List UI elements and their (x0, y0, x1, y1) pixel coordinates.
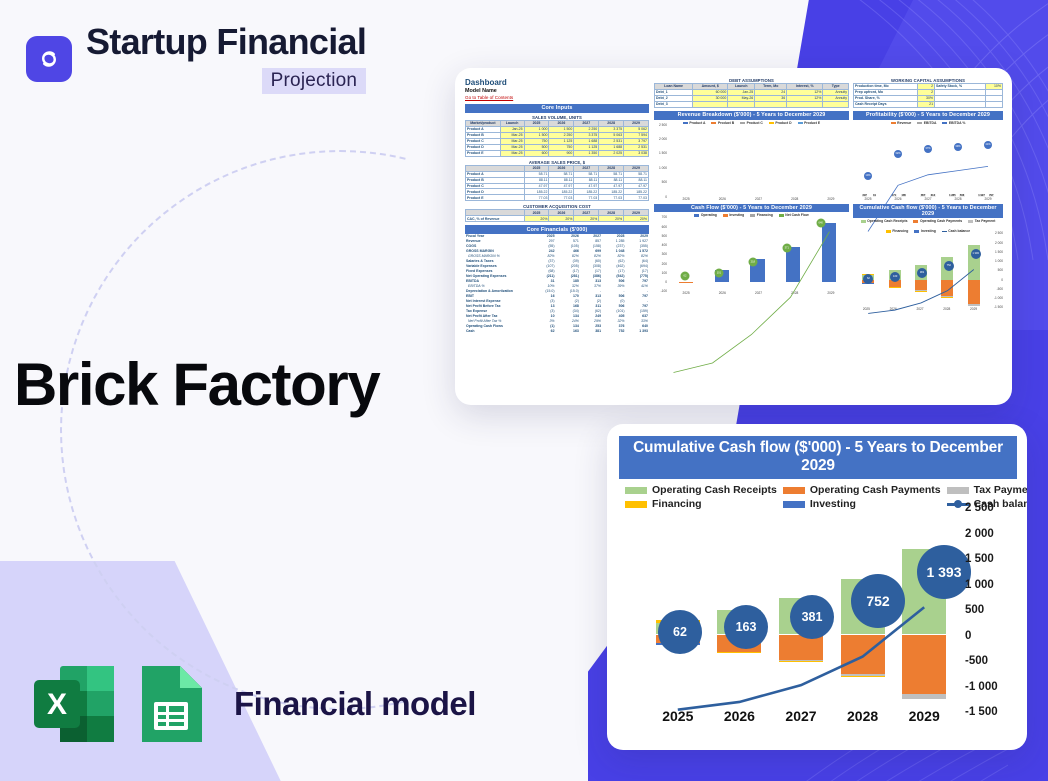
table-cell: 752 (602, 329, 625, 334)
table-cell (985, 101, 1002, 107)
line-marker: 752 (944, 261, 954, 271)
legend-label: Operating Cash Receipts (867, 219, 907, 223)
table-cell: 3 038 (624, 150, 649, 156)
cac-value-0: 20% (524, 216, 549, 222)
legend-swatch (694, 214, 699, 216)
logo-mark (26, 36, 72, 82)
legend-label: Tax Payment (975, 219, 996, 223)
cac-row: CAC, % of Revenue 20% 20% 20% 20% 20% (466, 216, 649, 222)
legend-swatch (891, 122, 896, 124)
table-cell: 77.03 (624, 195, 649, 201)
axis-tick: 1 500 (995, 250, 1003, 254)
debt-table[interactable]: Loan Name Amount, $ Launch Term, Mo Inte… (654, 83, 849, 108)
debt-body: Debt_160 000Jan-252412%AnnuityDebt_230 0… (655, 89, 849, 107)
infinity-loop-icon (35, 45, 63, 73)
legend-swatch (769, 122, 774, 124)
footer-label: Financial model (234, 685, 476, 723)
axis-label: 2029 (893, 708, 955, 724)
cumulative-mini-line (855, 233, 987, 365)
legend-label: Financing (652, 498, 702, 510)
wc-body: Production time, Mo2Safety Stock, %10%Pr… (854, 84, 1003, 108)
legend-label: Operating Cash Receipts (652, 484, 777, 496)
cumulative-mini-plot: 2 5002 0001 5001 0005000-500-1 000-1 500… (853, 233, 1003, 307)
line-marker: 163 (890, 272, 900, 282)
bar-group (775, 125, 811, 197)
table-cell: 2 025 (599, 150, 624, 156)
axis-tick: 0 (1001, 278, 1003, 282)
avg-price-body: Product A58.7158.7158.7158.7158.71Produc… (466, 171, 649, 201)
cumulative-cash-flow-card[interactable]: Cumulative Cash flow ($'000) - 5 Years t… (607, 424, 1027, 750)
dashboard-title: Dashboard (465, 78, 649, 87)
axis-label: 2028 (777, 197, 813, 201)
axis-tick: -1 500 (965, 706, 998, 718)
table-row[interactable]: Product E77.0377.0377.0377.0377.03 (466, 195, 649, 201)
table-cell: Product E (466, 195, 525, 201)
table-row[interactable]: Debt_3 (655, 101, 849, 107)
cumulative-mini-title: Cumulative Cash flow ($'000) - 5 Years t… (853, 204, 1003, 219)
axis-label: 2029 (813, 197, 849, 201)
cash-balance-marker: 752 (851, 574, 905, 628)
line-marker: 10% (864, 172, 872, 180)
axis-tick: -500 (997, 287, 1003, 291)
google-sheets-icon (134, 660, 210, 748)
dashboard-preview-card[interactable]: Dashboard Model Name Go to Table of Cont… (455, 68, 1012, 405)
cac-row-label: CAC, % of Revenue (466, 216, 525, 222)
core-financials-table[interactable]: Fiscal Year 2025 2026 2027 2028 2029 Rev… (465, 234, 649, 333)
legend-swatch (947, 487, 969, 494)
legend-swatch (625, 487, 647, 494)
table-cell: Debt_3 (655, 101, 693, 107)
sales-volume-table[interactable]: Market/product Launch 2025 2026 2027 202… (465, 120, 649, 157)
axis-tick: 1 500 (659, 151, 667, 155)
avg-price-table[interactable]: 2025 2026 2027 2028 2029 Product A58.715… (465, 165, 649, 202)
line-marker: 1 393 (971, 249, 981, 259)
line-marker: 41% (984, 141, 992, 149)
axis-label: 2026 (704, 197, 740, 201)
cash-flow-line (654, 217, 849, 405)
table-cell: Mar-25 (500, 150, 524, 156)
legend-item: Tax Payment (968, 219, 995, 223)
legend-item: Operating Cash Payments (913, 219, 962, 223)
legend-swatch (711, 122, 716, 124)
axis-label: 2025 (668, 197, 704, 201)
legend-item: Operating Cash Receipts (861, 219, 908, 223)
profitability-chart[interactable]: Profitability ($'000) - 5 Years to Decem… (853, 111, 1003, 201)
legend-swatch (913, 220, 918, 222)
legend-swatch (723, 214, 728, 216)
cash-balance-marker: 163 (724, 605, 768, 649)
line-marker: 218 (748, 258, 757, 267)
toc-link[interactable]: Go to Table of Contents (465, 95, 649, 100)
legend-item: Operating Cash Payments (783, 484, 941, 496)
legend-swatch (783, 487, 805, 494)
bar-group (668, 125, 704, 197)
axis-tick: 1 000 (995, 259, 1003, 263)
table-cell: 62 (531, 329, 555, 334)
axis-tick: -1 000 (994, 296, 1003, 300)
axis-tick: 1 000 (659, 166, 667, 170)
axis-tick: 0 (965, 630, 971, 642)
legend-swatch (779, 214, 784, 216)
revenue-bars (668, 125, 847, 197)
table-cell: 77.03 (549, 195, 574, 201)
revenue-breakdown-chart[interactable]: Revenue Breakdown ($'000) - 5 Years to D… (654, 111, 849, 201)
line-marker: 62 (863, 274, 873, 284)
cumulative-chart-plot: 621633817521 393 2 5002 0001 5001 000500… (629, 522, 1017, 702)
legend-swatch (886, 230, 891, 232)
table-row[interactable]: Cash621633817521 393 (465, 329, 649, 334)
table-cell: 77.03 (599, 195, 624, 201)
core-financials-header: Core Financials ($'000) (465, 225, 649, 234)
axis-tick: -500 (965, 655, 988, 667)
line-marker: 381 (917, 268, 927, 278)
cumulative-mini-legend: Operating Cash ReceiptsOperating Cash Pa… (853, 219, 1003, 233)
sales-volume-body: Product AJan-251 0001 5002 2503 3755 062… (466, 126, 649, 156)
line-marker: 371 (782, 243, 791, 252)
axis-tick: 1 500 (965, 553, 994, 565)
table-cell: 77.03 (574, 195, 599, 201)
table-cell: Cash Receipt Days (854, 101, 918, 107)
revenue-y-axis: 2 5002 0001 5001 0005000 (654, 125, 668, 197)
col-market-product: Market/product (466, 120, 501, 126)
revenue-breakdown-title: Revenue Breakdown ($'000) - 5 Years to D… (654, 111, 849, 120)
legend-label: Tax Payment (974, 484, 1027, 496)
revenue-breakdown-plot: 2 5002 0001 5001 0005000 (654, 125, 849, 197)
cumulative-mini-y-axis: 2 5002 0001 5001 0005000-500-1 000-1 500 (987, 233, 1003, 307)
legend-swatch (917, 122, 922, 124)
table-row[interactable]: Cash Receipt Days21 (854, 101, 1003, 107)
legend-swatch (740, 122, 745, 124)
axis-tick: 500 (965, 604, 984, 616)
cac-table[interactable]: 2025 2026 2027 2028 2029 CAC, % of Reven… (465, 209, 649, 222)
axis-tick: 2 500 (659, 123, 667, 127)
row-label: Cash (465, 329, 531, 334)
axis-label: 2027 (740, 197, 776, 201)
legend-item: Operating Cash Receipts (625, 484, 777, 496)
revenue-x-axis: 20252026202720282029 (654, 197, 849, 201)
cash-flow-chart[interactable]: Cash Flow ($'000) - 5 Years to December … (654, 204, 849, 312)
cumulative-chart-legend: Operating Cash ReceiptsOperating Cash Pa… (619, 479, 1017, 510)
page-title: Brick Factory (14, 350, 379, 419)
axis-tick: -1 000 (965, 681, 998, 693)
axis-tick: 2 500 (995, 231, 1003, 235)
brand-title: Startup Financial (86, 24, 366, 60)
legend-item: Tax Payment (947, 484, 1027, 496)
axis-label: 2026 (709, 708, 771, 724)
legend-swatch (942, 231, 947, 232)
table-cell: 1 350 (574, 150, 599, 156)
table-cell (935, 101, 986, 107)
line-marker: 101 (714, 268, 723, 277)
legend-swatch (798, 122, 803, 124)
axis-tick: 500 (998, 268, 1003, 272)
line-marker: 32% (894, 150, 902, 158)
axis-tick: 2 000 (659, 137, 667, 141)
table-cell: 77.03 (524, 195, 549, 201)
legend-swatch (750, 214, 755, 216)
model-name-label: Model Name (465, 88, 649, 94)
cac-value-3: 20% (599, 216, 624, 222)
cash-balance-marker: 381 (790, 595, 834, 639)
brand-logo: Startup Financial Projection (26, 24, 366, 94)
cac-value-2: 20% (574, 216, 599, 222)
cumulative-chart-title: Cumulative Cash flow ($'000) - 5 Years t… (619, 436, 1017, 479)
legend-label: Operating Cash Payments (810, 484, 941, 496)
axis-label: 2027 (770, 708, 832, 724)
cac-value-4: 20% (624, 216, 649, 222)
svg-text:X: X (47, 688, 67, 721)
table-cell: 1 393 (626, 329, 650, 334)
axis-tick: -1 500 (994, 305, 1003, 309)
table-cell: Product E (466, 150, 501, 156)
working-capital-table[interactable]: Production time, Mo2Safety Stock, %10%Pr… (853, 83, 1003, 108)
cac-value-1: 20% (549, 216, 574, 222)
table-row[interactable]: Product EMar-256009001 3502 0253 038 (466, 150, 649, 156)
core-inputs-header: Core Inputs (465, 104, 649, 113)
axis-tick: 1 000 (965, 579, 994, 591)
cash-flow-plot: 7006005004003002001000-100 6210121837164… (654, 217, 849, 291)
cumulative-cash-flow-mini-chart[interactable]: Cumulative Cash flow ($'000) - 5 Years t… (853, 204, 1003, 312)
line-marker: 37% (924, 145, 932, 153)
table-cell: 900 (549, 150, 574, 156)
legend-item: Financing (625, 498, 777, 510)
legend-item: Investing (783, 498, 941, 510)
core-financials-body: Revenue2975718571 2851 927COGS(55)(105)(… (465, 239, 649, 333)
table-cell (755, 101, 787, 107)
table-cell (693, 101, 728, 107)
table-cell: 21 (917, 101, 934, 107)
axis-tick: 2 000 (995, 241, 1003, 245)
line-marker: 640 (816, 218, 825, 227)
axis-tick: 2 000 (965, 528, 994, 540)
cumulative-chart-y-axis: 2 5002 0001 5001 0005000-500-1 000-1 500 (957, 508, 1015, 712)
table-cell: 381 (580, 329, 602, 334)
footer-badges: X Financial model (30, 660, 476, 748)
legend-swatch (942, 122, 947, 124)
bar-group (811, 125, 847, 197)
table-cell: 163 (556, 329, 580, 334)
legend-swatch (914, 230, 919, 232)
table-cell: 600 (524, 150, 549, 156)
axis-tick: 0 (665, 195, 667, 199)
cumulative-chart-x-axis: 20252026202720282029 (647, 708, 955, 724)
legend-swatch (968, 220, 973, 222)
legend-swatch (625, 501, 647, 508)
axis-label: 2025 (647, 708, 709, 724)
microsoft-excel-icon: X (30, 660, 118, 748)
table-cell (823, 101, 849, 107)
cash-flow-title: Cash Flow ($'000) - 5 Years to December … (654, 204, 849, 213)
profitability-plot: 297315711858573131 2855061 927797 10%32%… (853, 125, 1003, 197)
legend-label: Investing (810, 498, 856, 510)
line-marker: 39% (954, 143, 962, 151)
table-cell (787, 101, 823, 107)
table-cell (728, 101, 755, 107)
bar-group (740, 125, 776, 197)
brand-subtitle: Projection (262, 68, 367, 94)
bar-group (704, 125, 740, 197)
axis-tick: 2 500 (965, 502, 994, 514)
cash-balance-marker: 62 (658, 610, 702, 654)
legend-swatch (861, 220, 866, 222)
legend-label: Operating Cash Payments (920, 219, 962, 223)
line-marker: 62 (680, 272, 689, 281)
axis-tick: 500 (662, 180, 667, 184)
legend-swatch (783, 501, 805, 508)
profitability-title: Profitability ($'000) - 5 Years to Decem… (853, 111, 1003, 120)
axis-label: 2028 (832, 708, 894, 724)
legend-swatch (683, 122, 688, 124)
